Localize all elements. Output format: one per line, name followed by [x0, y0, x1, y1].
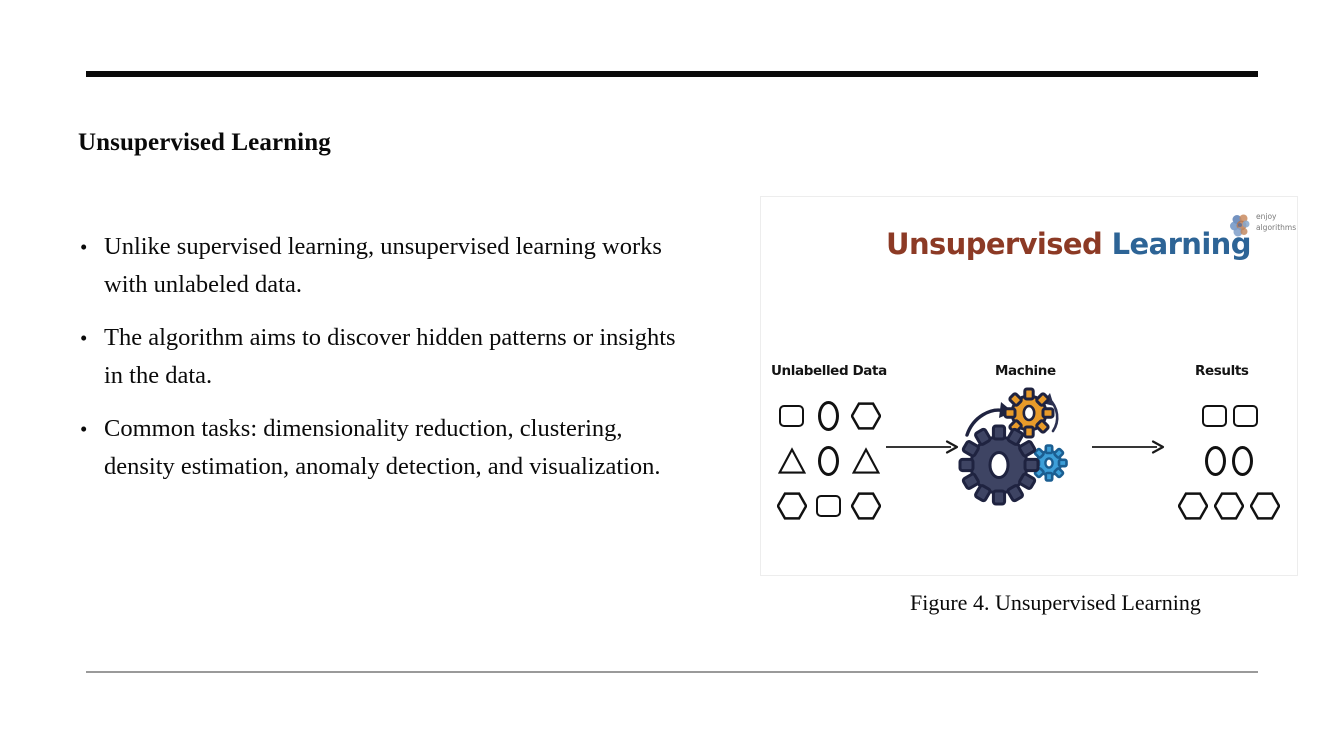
shape-rounded-square [816, 495, 841, 517]
shape-hexagon [1178, 491, 1208, 521]
result-cluster-rounded-square [1200, 393, 1258, 438]
header-divider [86, 71, 1258, 77]
result-cluster-oval [1205, 438, 1253, 483]
shape-hexagon [1250, 491, 1280, 521]
figure-region: Unsupervised Learning enjoy algorit [760, 196, 1298, 576]
brand-line-2: algorithms [1256, 223, 1296, 234]
brand-text: enjoy algorithms [1256, 212, 1296, 233]
bullet-text: Unlike supervised learning, unsupervised… [104, 228, 698, 304]
footer-divider [86, 671, 1258, 673]
shape-oval [1232, 446, 1253, 476]
list-item: • The algorithm aims to discover hidden … [78, 319, 698, 395]
results-clusters [1169, 393, 1289, 528]
bullet-list: • Unlike supervised learning, unsupervis… [78, 228, 698, 501]
shape-triangle [778, 447, 806, 475]
shape-rounded-square [1233, 405, 1258, 427]
list-item: • Unlike supervised learning, unsupervis… [78, 228, 698, 304]
brand-line-1: enjoy [1256, 212, 1296, 223]
bullet-marker-icon: • [78, 228, 104, 266]
bullet-text: The algorithm aims to discover hidden pa… [104, 319, 698, 395]
shape-oval [1205, 446, 1226, 476]
machine-gears-icon [957, 387, 1077, 507]
shape-hexagon [851, 401, 881, 431]
list-item: • Common tasks: dimensionality reduction… [78, 410, 698, 486]
brand-logo: enjoy algorithms [1229, 209, 1299, 243]
result-cluster-hexagon [1178, 483, 1280, 528]
column-label-unlabelled-data: Unlabelled Data [771, 363, 887, 379]
unlabelled-data-grid [773, 393, 885, 528]
figure-image: Unsupervised Learning enjoy algorit [760, 196, 1298, 576]
column-label-machine: Machine [995, 363, 1056, 379]
figure-heading: Unsupervised Learning [886, 227, 1251, 261]
slide: Unsupervised Learning • Unlike supervise… [0, 0, 1340, 749]
shape-rounded-square [1202, 405, 1227, 427]
shape-oval [818, 401, 839, 431]
bullet-text: Common tasks: dimensionality reduction, … [104, 410, 698, 486]
arrow-data-to-machine [885, 440, 963, 454]
brain-icon [1229, 213, 1253, 238]
shape-oval [818, 446, 839, 476]
shape-hexagon [1214, 491, 1244, 521]
shape-hexagon [777, 491, 807, 521]
figure-caption: Figure 4. Unsupervised Learning [910, 590, 1201, 616]
bullet-marker-icon: • [78, 319, 104, 357]
arrow-machine-to-results [1091, 440, 1169, 454]
shape-triangle [852, 447, 880, 475]
figure-heading-word-unsupervised: Unsupervised [886, 227, 1102, 261]
page-title: Unsupervised Learning [78, 129, 331, 157]
bullet-marker-icon: • [78, 410, 104, 448]
column-label-results: Results [1195, 363, 1249, 379]
shape-hexagon [851, 491, 881, 521]
shape-rounded-square [779, 405, 804, 427]
